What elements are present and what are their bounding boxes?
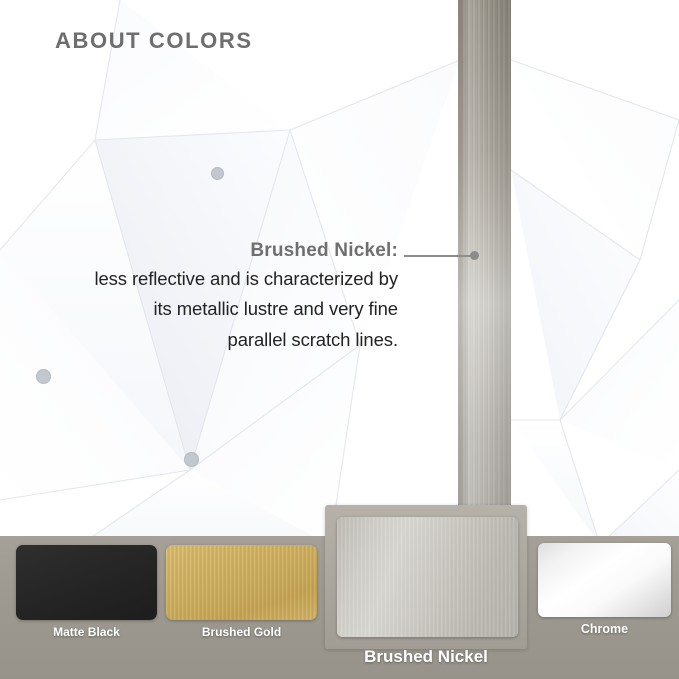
decor-node-dot (36, 369, 51, 384)
leader-line (404, 255, 472, 257)
callout-body-line-1: less reflective and is characterized by (30, 264, 398, 295)
decor-node-dot (211, 167, 224, 180)
brushed-nickel-bar (458, 0, 511, 522)
swatch-label-brushed-gold: Brushed Gold (166, 625, 317, 639)
decor-node-dot (184, 452, 199, 467)
leader-dot-marker (470, 251, 479, 260)
swatch-chip-brushed-gold[interactable] (166, 545, 317, 620)
page-title: ABOUT COLORS (55, 28, 253, 54)
swatch-chip-chrome[interactable] (538, 543, 671, 617)
swatch-chip-brushed-nickel[interactable] (337, 517, 518, 637)
callout-body-line-3: parallel scratch lines. (30, 325, 398, 356)
callout-text-block: Brushed Nickel: less reflective and is c… (30, 238, 398, 356)
about-colors-infographic: ABOUT COLORS Brushed Nickel: less reflec… (0, 0, 679, 679)
swatch-label-matte-black: Matte Black (16, 625, 157, 639)
swatch-label-brushed-nickel: Brushed Nickel (325, 647, 527, 667)
callout-lead-label: Brushed Nickel: (30, 238, 398, 264)
swatch-label-chrome: Chrome (538, 622, 671, 636)
swatch-chip-matte-black[interactable] (16, 545, 157, 620)
callout-body-line-2: its metallic lustre and very fine (30, 294, 398, 325)
